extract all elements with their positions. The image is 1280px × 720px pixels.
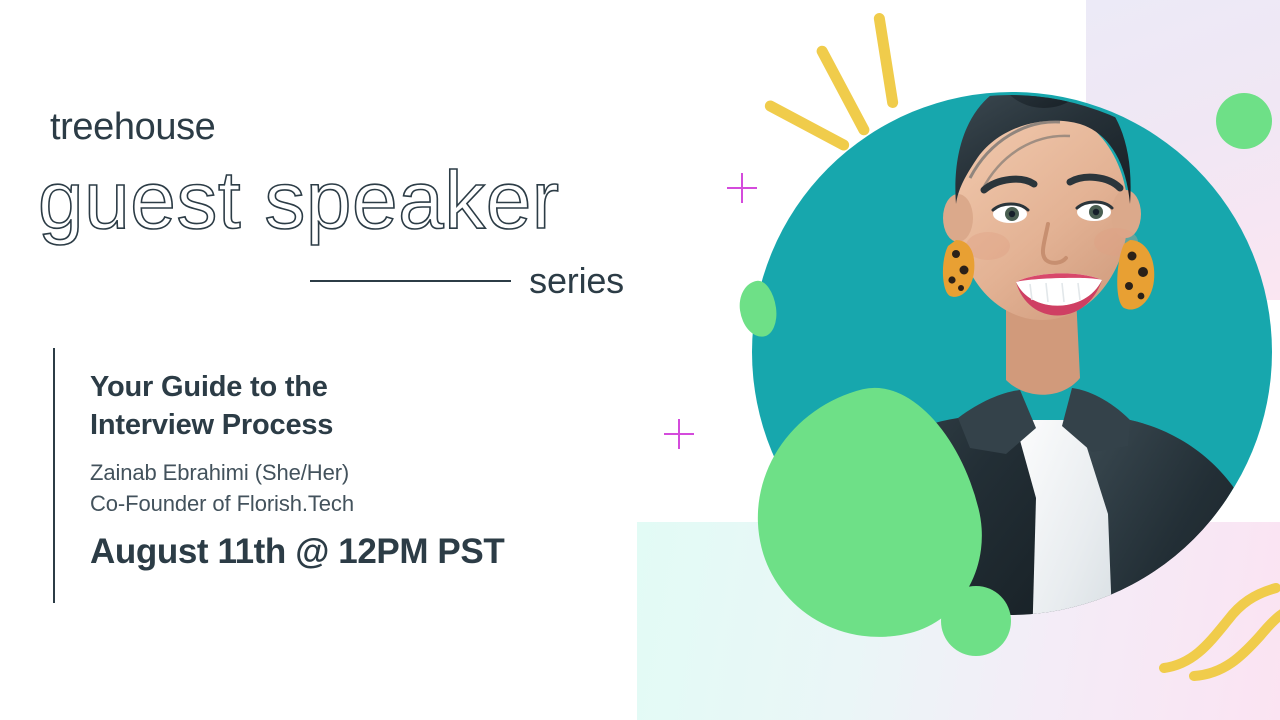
green-circle-decor bbox=[941, 586, 1011, 656]
info-accent-rule bbox=[53, 348, 55, 603]
program-suffix: series bbox=[529, 263, 624, 299]
slide-canvas: treehouse guest speaker series Your Guid… bbox=[0, 0, 1280, 720]
program-title: guest speaker bbox=[38, 160, 560, 242]
session-headline: Your Guide to the Interview Process bbox=[90, 368, 630, 445]
series-row: series bbox=[310, 258, 624, 304]
session-info: Your Guide to the Interview Process Zain… bbox=[90, 368, 630, 572]
speaker-role: Co-Founder of Florish.Tech bbox=[90, 488, 630, 519]
brand-wordmark: treehouse bbox=[50, 108, 215, 146]
yellow-wave-strokes bbox=[1150, 580, 1280, 690]
speaker-name: Zainab Ebrahimi (She/Her) bbox=[90, 457, 630, 488]
session-datetime: August 11th @ 12PM PST bbox=[90, 533, 630, 572]
plus-mark-2 bbox=[664, 419, 694, 449]
plus-mark-1 bbox=[727, 173, 757, 203]
series-divider-rule bbox=[310, 280, 511, 282]
